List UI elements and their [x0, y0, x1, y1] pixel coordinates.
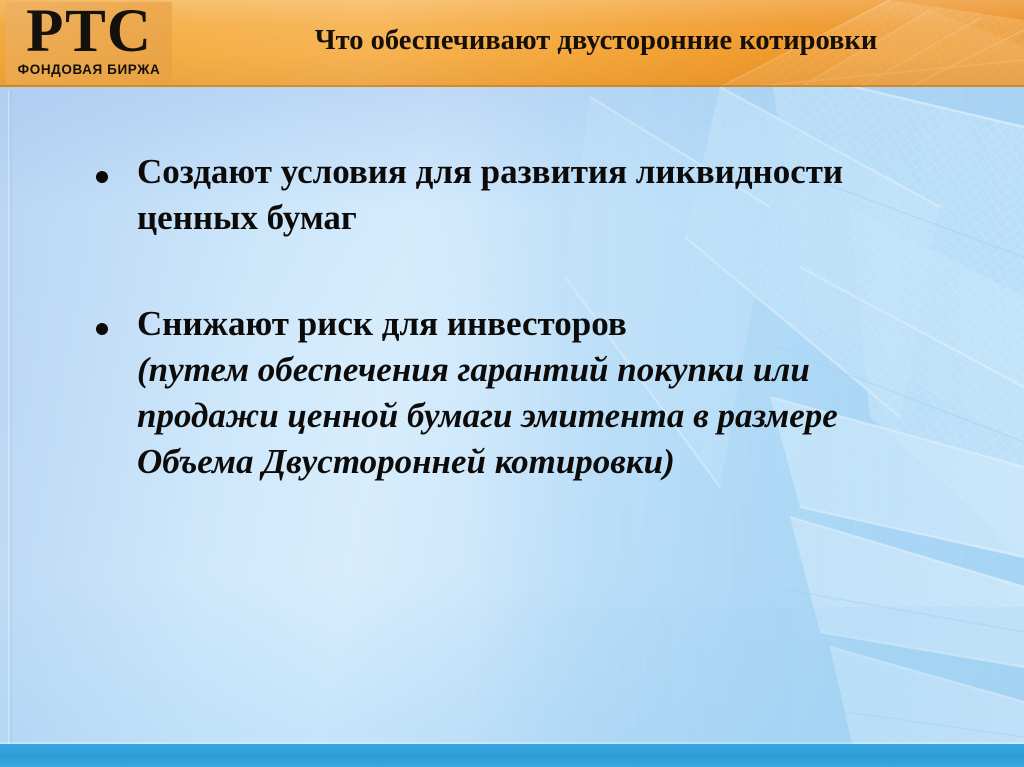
slide-header: РТС ФОНДОВАЯ БИРЖА Что обеспечивают двус… — [0, 0, 1024, 87]
bullet-2-upright-text: Снижают риск для инвесторов — [137, 301, 937, 347]
logo-wordmark: РТС — [6, 0, 172, 64]
slide-title: Что обеспечивают двусторонние котировки — [186, 24, 1006, 58]
bullet-marker-icon — [96, 323, 108, 335]
slide-content: Создают условия для развития ликвидности… — [0, 87, 1024, 767]
bullet-marker-icon — [96, 171, 108, 183]
logo-subtitle: ФОНДОВАЯ БИРЖА — [6, 62, 172, 78]
bullet-1-text: Создают условия для развития ликвидности… — [137, 149, 937, 241]
bullet-2-italic-text: (путем обеспечения гарантий покупки или … — [137, 347, 937, 485]
presentation-slide: РТС ФОНДОВАЯ БИРЖА Что обеспечивают двус… — [0, 0, 1024, 767]
bullet-2-text: Снижают риск для инвесторов (путем обесп… — [137, 301, 937, 485]
bullet-1-upright-text: Создают условия для развития ликвидности… — [137, 149, 937, 241]
rts-logo: РТС ФОНДОВАЯ БИРЖА — [6, 2, 172, 84]
